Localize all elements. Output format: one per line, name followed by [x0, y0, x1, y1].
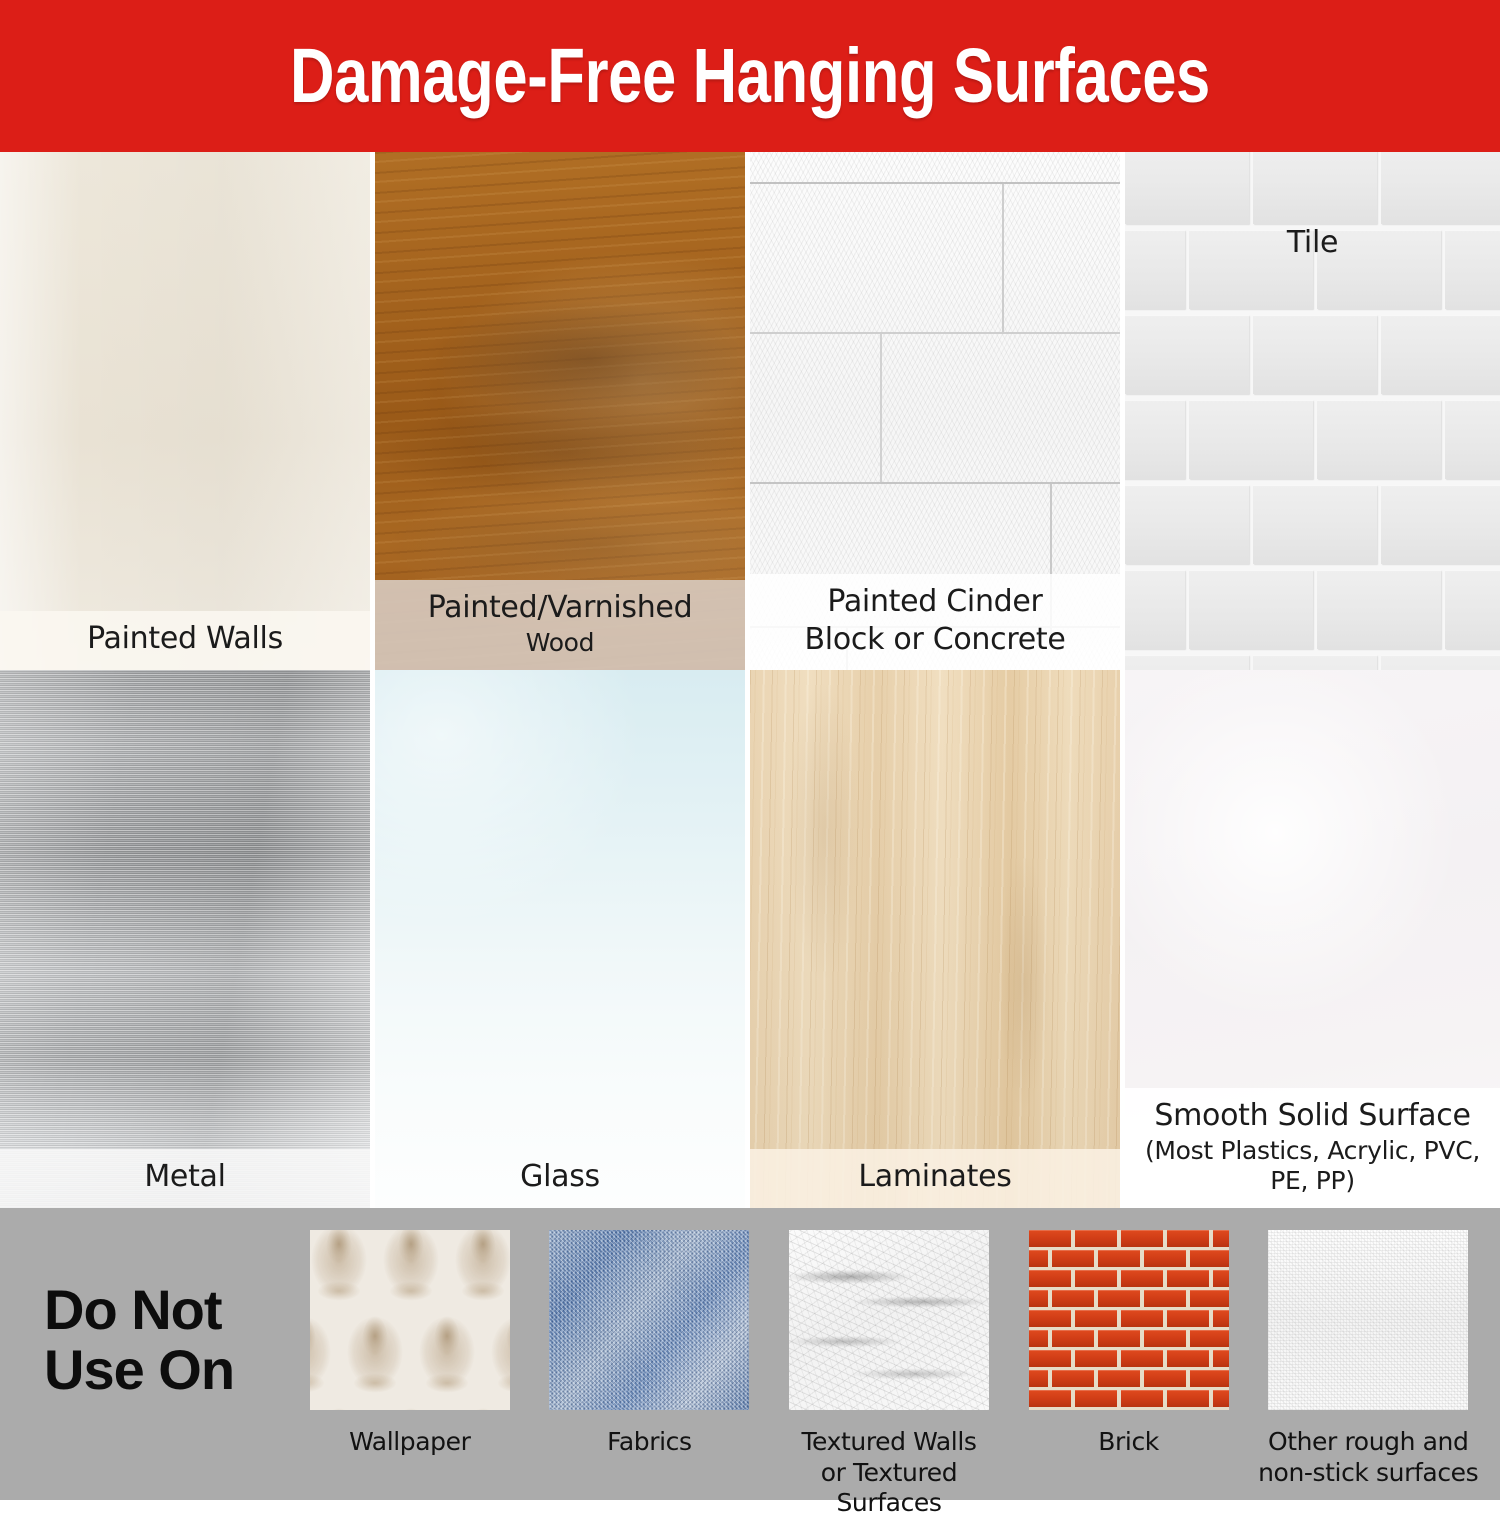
surface-cell-tile: Tile [1125, 152, 1500, 670]
label-line-1: Painted/Varnished [428, 590, 693, 625]
do-not-use-label-brick: Brick [1098, 1427, 1159, 1458]
do-not-use-thumbnail-list: Wallpaper Fabrics Textured Walls or Text… [290, 1230, 1488, 1492]
surface-label-varnished-wood: Painted/Varnished Wood [375, 580, 745, 670]
do-not-use-title-line-1: Do Not [44, 1280, 304, 1340]
glass-texture [375, 670, 745, 1208]
do-not-use-label-textured-walls: Textured Walls or Textured Surfaces [769, 1427, 1009, 1519]
do-not-use-item-brick: Brick [1009, 1230, 1249, 1519]
wallpaper-texture [310, 1230, 510, 1410]
label-line-2: or Textured Surfaces [769, 1458, 1009, 1519]
label-line-1: Brick [1098, 1427, 1159, 1458]
header-banner: Damage-Free Hanging Surfaces [0, 0, 1500, 152]
label-line-1: Fabrics [607, 1427, 691, 1458]
do-not-use-item-wallpaper: Wallpaper [290, 1230, 530, 1519]
surface-cell-metal: Metal [0, 670, 370, 1208]
approved-surfaces-grid: Painted Walls Painted/Varnished Wood Pai… [0, 152, 1500, 1208]
do-not-use-label-rough-surfaces: Other rough and non-stick surfaces [1258, 1427, 1478, 1488]
do-not-use-label-wallpaper: Wallpaper [349, 1427, 470, 1458]
label-line-2: Wood [381, 628, 739, 658]
label-line-1: Other rough and [1258, 1427, 1478, 1458]
do-not-use-item-textured-walls: Textured Walls or Textured Surfaces [769, 1230, 1009, 1519]
brushed-metal-texture [0, 670, 370, 1208]
surface-cell-painted-walls: Painted Walls [0, 152, 370, 670]
surface-label-laminates: Laminates [750, 1149, 1120, 1208]
do-not-use-title-line-2: Use On [44, 1340, 304, 1400]
surface-cell-solid-surface: Smooth Solid Surface (Most Plastics, Acr… [1125, 670, 1500, 1208]
surface-cell-varnished-wood: Painted/Varnished Wood [375, 152, 745, 670]
brick-texture [1029, 1230, 1229, 1410]
label-line-1: Wallpaper [349, 1427, 470, 1458]
label-line-1: Textured Walls [769, 1427, 1009, 1458]
label-line-2: (Most Plastics, Acrylic, PVC, PE, PP) [1131, 1136, 1494, 1196]
laminate-texture [750, 670, 1120, 1208]
textured-wall-texture [789, 1230, 989, 1410]
page-title: Damage-Free Hanging Surfaces [290, 32, 1210, 121]
surface-label-glass: Glass [375, 1149, 745, 1208]
painted-wall-texture [0, 152, 370, 670]
rough-surface-texture [1268, 1230, 1468, 1410]
do-not-use-section: Do Not Use On Wallpaper Fabrics [0, 1208, 1500, 1500]
surface-label-metal: Metal [0, 1149, 370, 1208]
label-line-2: non-stick surfaces [1258, 1458, 1478, 1489]
label-line-2: Block or Concrete [756, 622, 1114, 658]
do-not-use-label-fabrics: Fabrics [607, 1427, 691, 1458]
fabric-texture [549, 1230, 749, 1410]
surface-label-tile: Tile [1125, 215, 1500, 274]
do-not-use-item-rough-surfaces: Other rough and non-stick surfaces [1248, 1230, 1488, 1519]
do-not-use-item-fabrics: Fabrics [530, 1230, 770, 1519]
infographic-page: Damage-Free Hanging Surfaces Painted Wal… [0, 0, 1500, 1500]
do-not-use-title: Do Not Use On [44, 1280, 304, 1401]
label-line-1: Painted Cinder [827, 584, 1042, 619]
surface-cell-laminates: Laminates [750, 670, 1120, 1208]
surface-label-cinder-block: Painted Cinder Block or Concrete [750, 574, 1120, 670]
label-line-1: Smooth Solid Surface [1154, 1098, 1470, 1133]
surface-cell-glass: Glass [375, 670, 745, 1208]
surface-cell-cinder-block: Painted Cinder Block or Concrete [750, 152, 1120, 670]
surface-label-painted-walls: Painted Walls [0, 611, 370, 670]
surface-label-solid-surface: Smooth Solid Surface (Most Plastics, Acr… [1125, 1088, 1500, 1208]
